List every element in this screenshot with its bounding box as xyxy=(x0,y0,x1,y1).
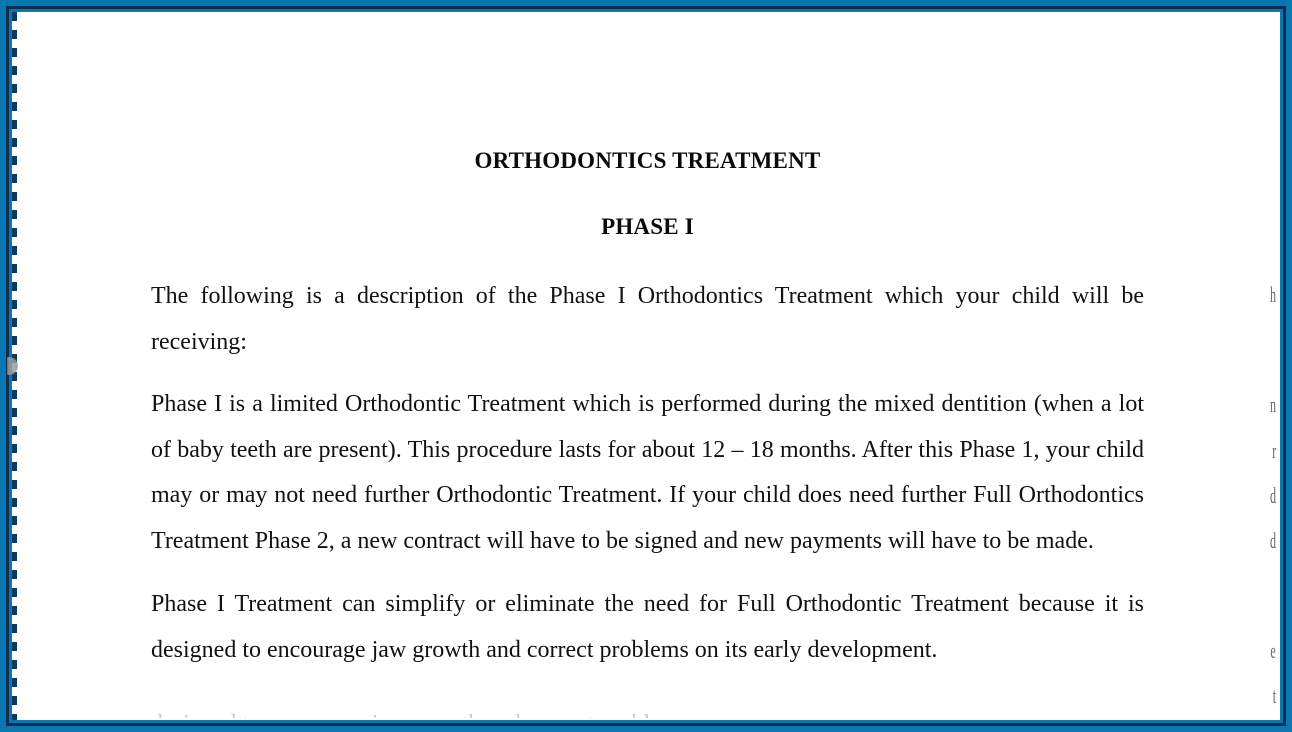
paragraph-phase-description: Phase I is a limited Orthodontic Treatme… xyxy=(151,382,1144,564)
left-edge-resize-handle[interactable] xyxy=(0,357,18,375)
clipped-glyph: n xyxy=(1270,392,1276,418)
clipped-glyph: r xyxy=(1272,438,1276,464)
document-page[interactable]: ORTHODONTICS TREATMENT PHASE I The follo… xyxy=(14,14,1278,718)
clipped-glyph: t xyxy=(1273,683,1276,709)
clipped-glyph: d xyxy=(1270,528,1276,554)
document-viewer: ORTHODONTICS TREATMENT PHASE I The follo… xyxy=(0,0,1292,732)
clipped-glyph: e xyxy=(1271,638,1276,664)
paragraph-intro: The following is a description of the Ph… xyxy=(151,274,1144,365)
document-title: ORTHODONTICS TREATMENT xyxy=(151,148,1144,174)
document-body: ORTHODONTICS TREATMENT PHASE I The follo… xyxy=(151,14,1144,673)
paragraph-phase-benefits: Phase I Treatment can simplify or elimin… xyxy=(151,582,1144,673)
document-subtitle: PHASE I xyxy=(151,214,1144,240)
clipped-glyph: d xyxy=(1270,483,1276,509)
clipped-bottom-line-text: designed to encourage jaw growth and cor… xyxy=(151,711,1144,718)
clipped-text-fragments: h n r d d e t xyxy=(1256,14,1278,718)
clipped-glyph: h xyxy=(1270,282,1276,308)
clipped-bottom-line: designed to encourage jaw growth and cor… xyxy=(151,711,1144,718)
